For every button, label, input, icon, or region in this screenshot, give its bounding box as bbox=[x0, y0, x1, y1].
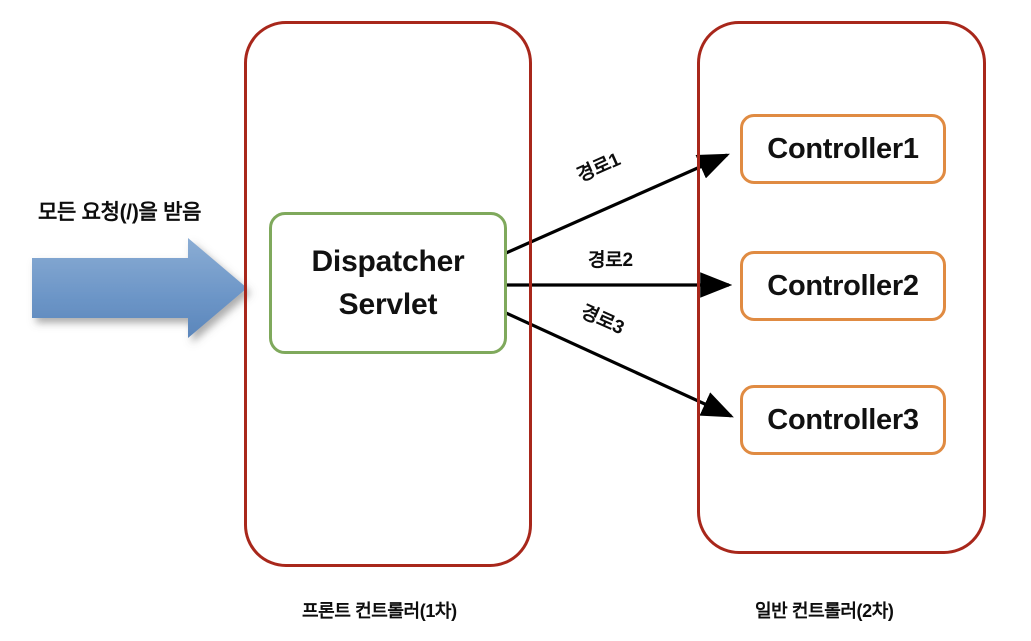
dispatcher-servlet-label-line1: Dispatcher bbox=[311, 246, 464, 278]
general-controller-caption: 일반 컨트롤러(2차) bbox=[755, 597, 894, 623]
controller-label-2: Controller2 bbox=[767, 270, 918, 303]
incoming-request-arrow bbox=[32, 238, 247, 338]
controller-box-1[interactable]: Controller1 bbox=[740, 114, 946, 184]
incoming-request-label: 모든 요청(/)을 받음 bbox=[38, 196, 201, 226]
controller-label-3: Controller3 bbox=[767, 404, 918, 437]
dispatcher-servlet-box[interactable]: Dispatcher Servlet bbox=[269, 212, 507, 354]
controller-box-2[interactable]: Controller2 bbox=[740, 251, 946, 321]
controller-label-1: Controller1 bbox=[767, 133, 918, 166]
diagram-canvas: Dispatcher Servlet Controller1 Controlle… bbox=[0, 0, 1031, 641]
route-label-2: 경로2 bbox=[588, 245, 633, 272]
front-controller-caption: 프론트 컨트롤러(1차) bbox=[302, 597, 457, 623]
dispatcher-servlet-label-line2: Servlet bbox=[339, 289, 438, 321]
controller-box-3[interactable]: Controller3 bbox=[740, 385, 946, 455]
